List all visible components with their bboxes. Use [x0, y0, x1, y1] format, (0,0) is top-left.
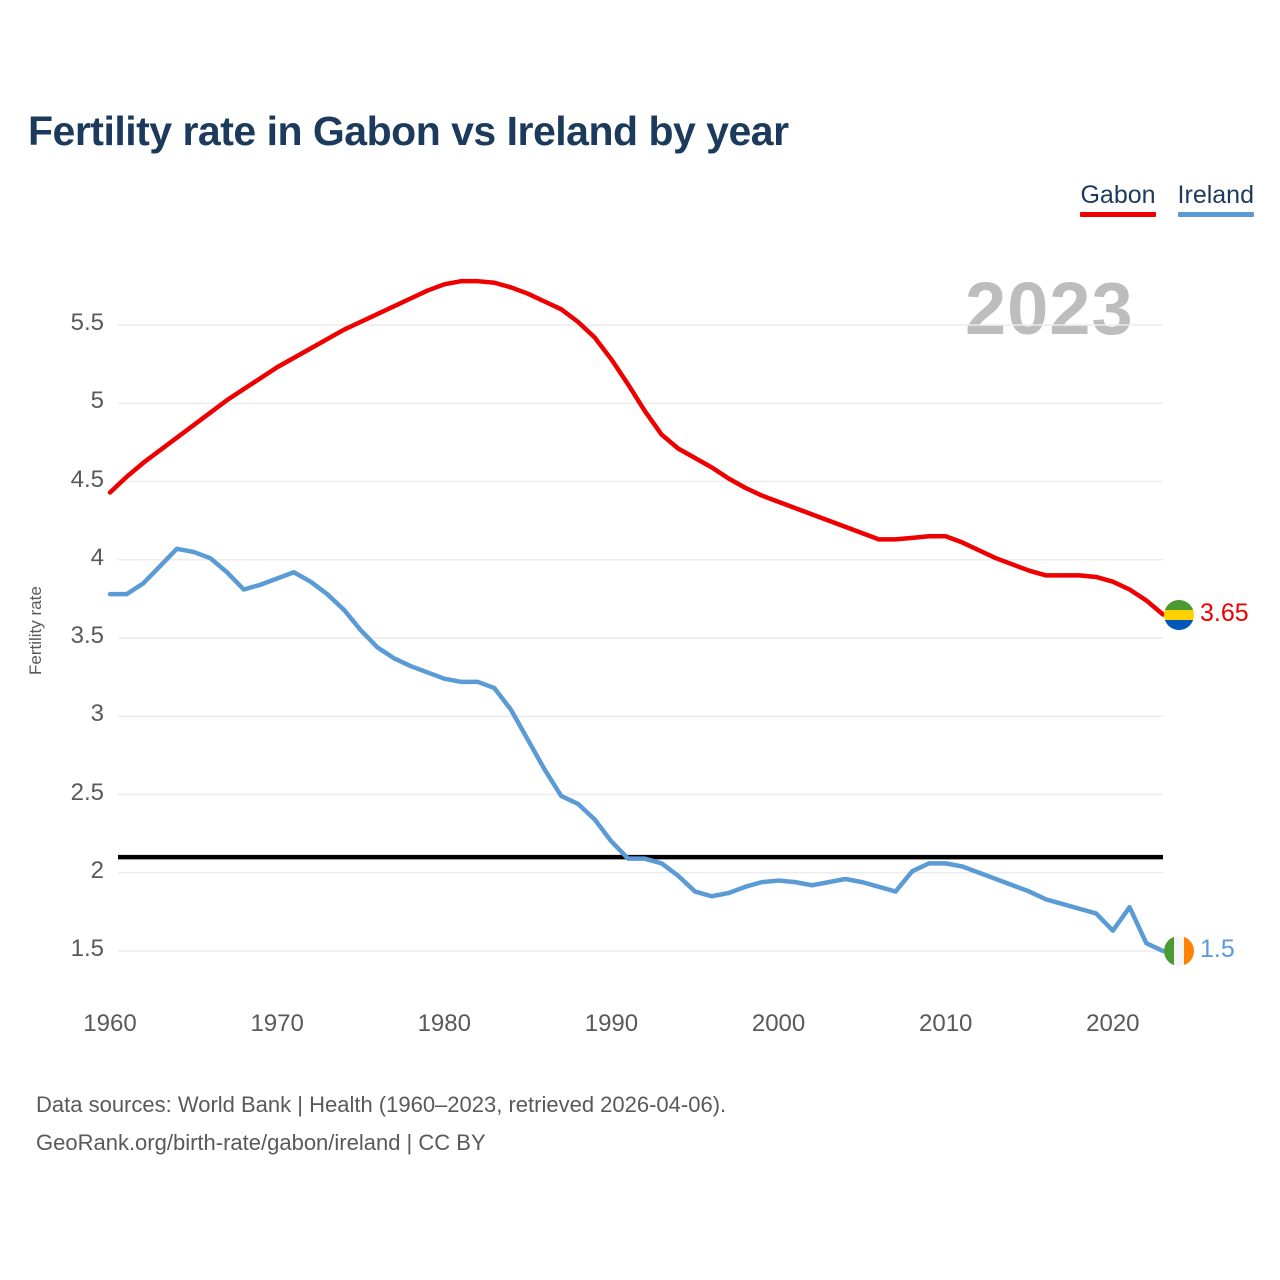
series-line-ireland — [110, 549, 1163, 951]
x-tick-2020: 2020 — [1058, 1010, 1168, 1038]
x-tick-2010: 2010 — [891, 1010, 1001, 1038]
x-tick-1970: 1970 — [222, 1010, 332, 1038]
x-tick-1980: 1980 — [389, 1010, 499, 1038]
y-tick-5: 5 — [34, 387, 104, 415]
x-tick-1990: 1990 — [556, 1010, 666, 1038]
ireland-flag-icon — [1164, 936, 1194, 966]
y-tick-3.5: 3.5 — [34, 622, 104, 650]
x-tick-1960: 1960 — [55, 1010, 165, 1038]
y-tick-4: 4 — [34, 544, 104, 572]
y-tick-1.5: 1.5 — [34, 935, 104, 963]
y-tick-5.5: 5.5 — [34, 309, 104, 337]
x-tick-2000: 2000 — [724, 1010, 834, 1038]
footer-sources-line: Data sources: World Bank | Health (1960–… — [36, 1086, 726, 1124]
footer: Data sources: World Bank | Health (1960–… — [36, 1086, 726, 1162]
y-tick-2.5: 2.5 — [34, 779, 104, 807]
series-line-gabon — [110, 281, 1163, 614]
footer-attribution-line: GeoRank.org/birth-rate/gabon/ireland | C… — [36, 1124, 726, 1162]
y-tick-2: 2 — [34, 857, 104, 885]
y-tick-4.5: 4.5 — [34, 466, 104, 494]
gabon-flag-icon — [1164, 600, 1194, 630]
end-value-gabon: 3.65 — [1200, 599, 1249, 628]
y-tick-3: 3 — [34, 700, 104, 728]
end-value-ireland: 1.5 — [1200, 935, 1235, 964]
